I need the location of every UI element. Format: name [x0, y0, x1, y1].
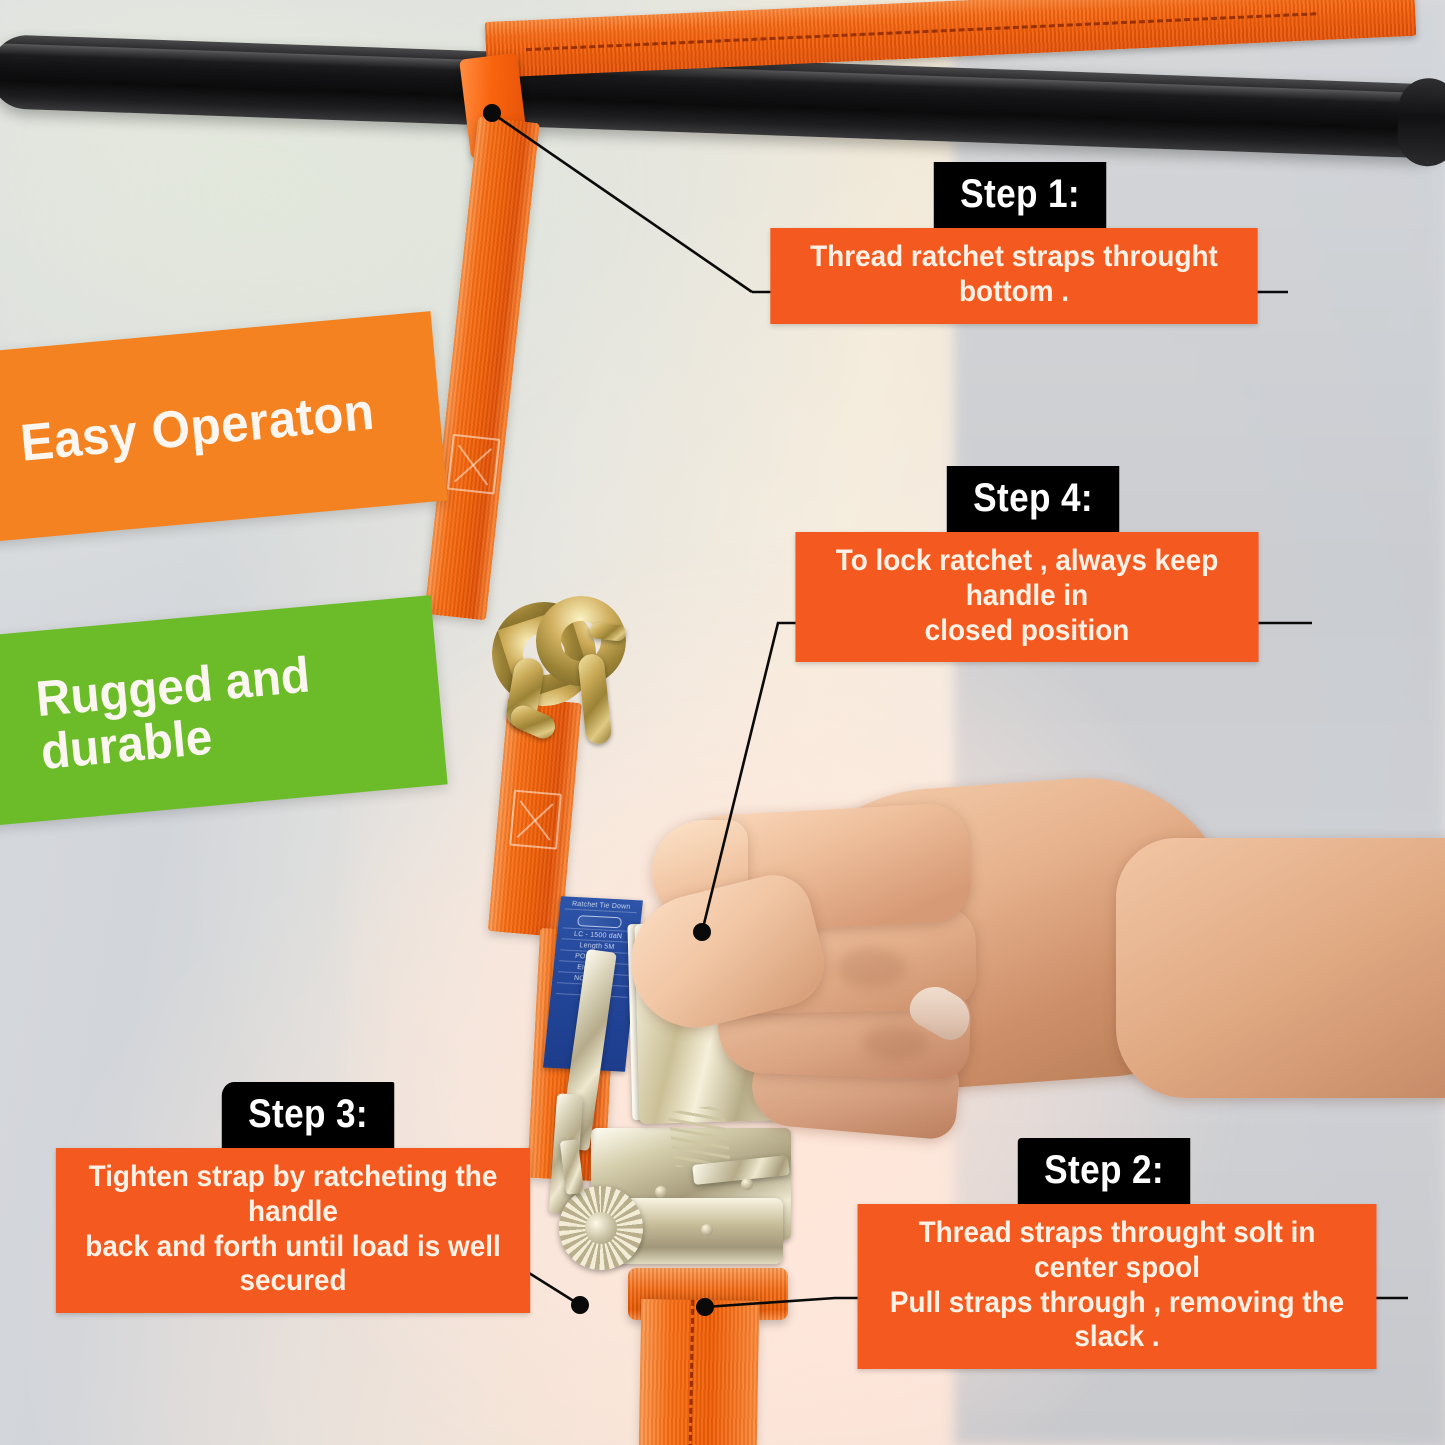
spec-logo-icon [563, 911, 637, 932]
strap-x-stitch [447, 434, 501, 495]
infographic-canvas: Ratchet Tie Down LC - 1500 daN Length 5M… [0, 0, 1445, 1445]
callout-step-1: Step 1: Thread ratchet straps throught b… [752, 162, 1292, 324]
knuckle-shadow [862, 1024, 928, 1060]
strap-stitch-line [526, 12, 1316, 51]
callout-step-2: Step 2: Thread straps throught solt in c… [838, 1138, 1408, 1369]
callout-step-4-body: To lock ratchet , always keep handle in … [795, 532, 1258, 662]
callout-step-4-heading: Step 4: [947, 466, 1120, 532]
gear-hub [585, 1212, 617, 1244]
strap-x-stitch [509, 790, 562, 850]
wrist [1116, 838, 1445, 1098]
callout-step-2-heading: Step 2: [1018, 1138, 1191, 1204]
callout-step-3-heading: Step 3: [222, 1082, 395, 1148]
callout-step-3-body: Tighten strap by ratcheting the handle b… [56, 1148, 530, 1313]
knuckle-shadow [836, 948, 906, 988]
badge-easy-operation-label: Easy Operaton [18, 382, 377, 474]
rail-end-cap [1397, 77, 1445, 167]
badge-rugged-durable-label: Rugged and durable [34, 648, 317, 778]
double-j-hook-assembly [470, 580, 660, 760]
callout-step-1-heading: Step 1: [934, 162, 1107, 228]
callout-step-3: Step 3: Tighten strap by ratcheting the … [38, 1082, 558, 1313]
callout-step-4: Step 4: To lock ratchet , always keep ha… [778, 466, 1288, 662]
callout-step-1-body: Thread ratchet straps throught bottom . [770, 228, 1257, 324]
callout-step-2-body: Thread straps throught solt in center sp… [858, 1204, 1377, 1369]
